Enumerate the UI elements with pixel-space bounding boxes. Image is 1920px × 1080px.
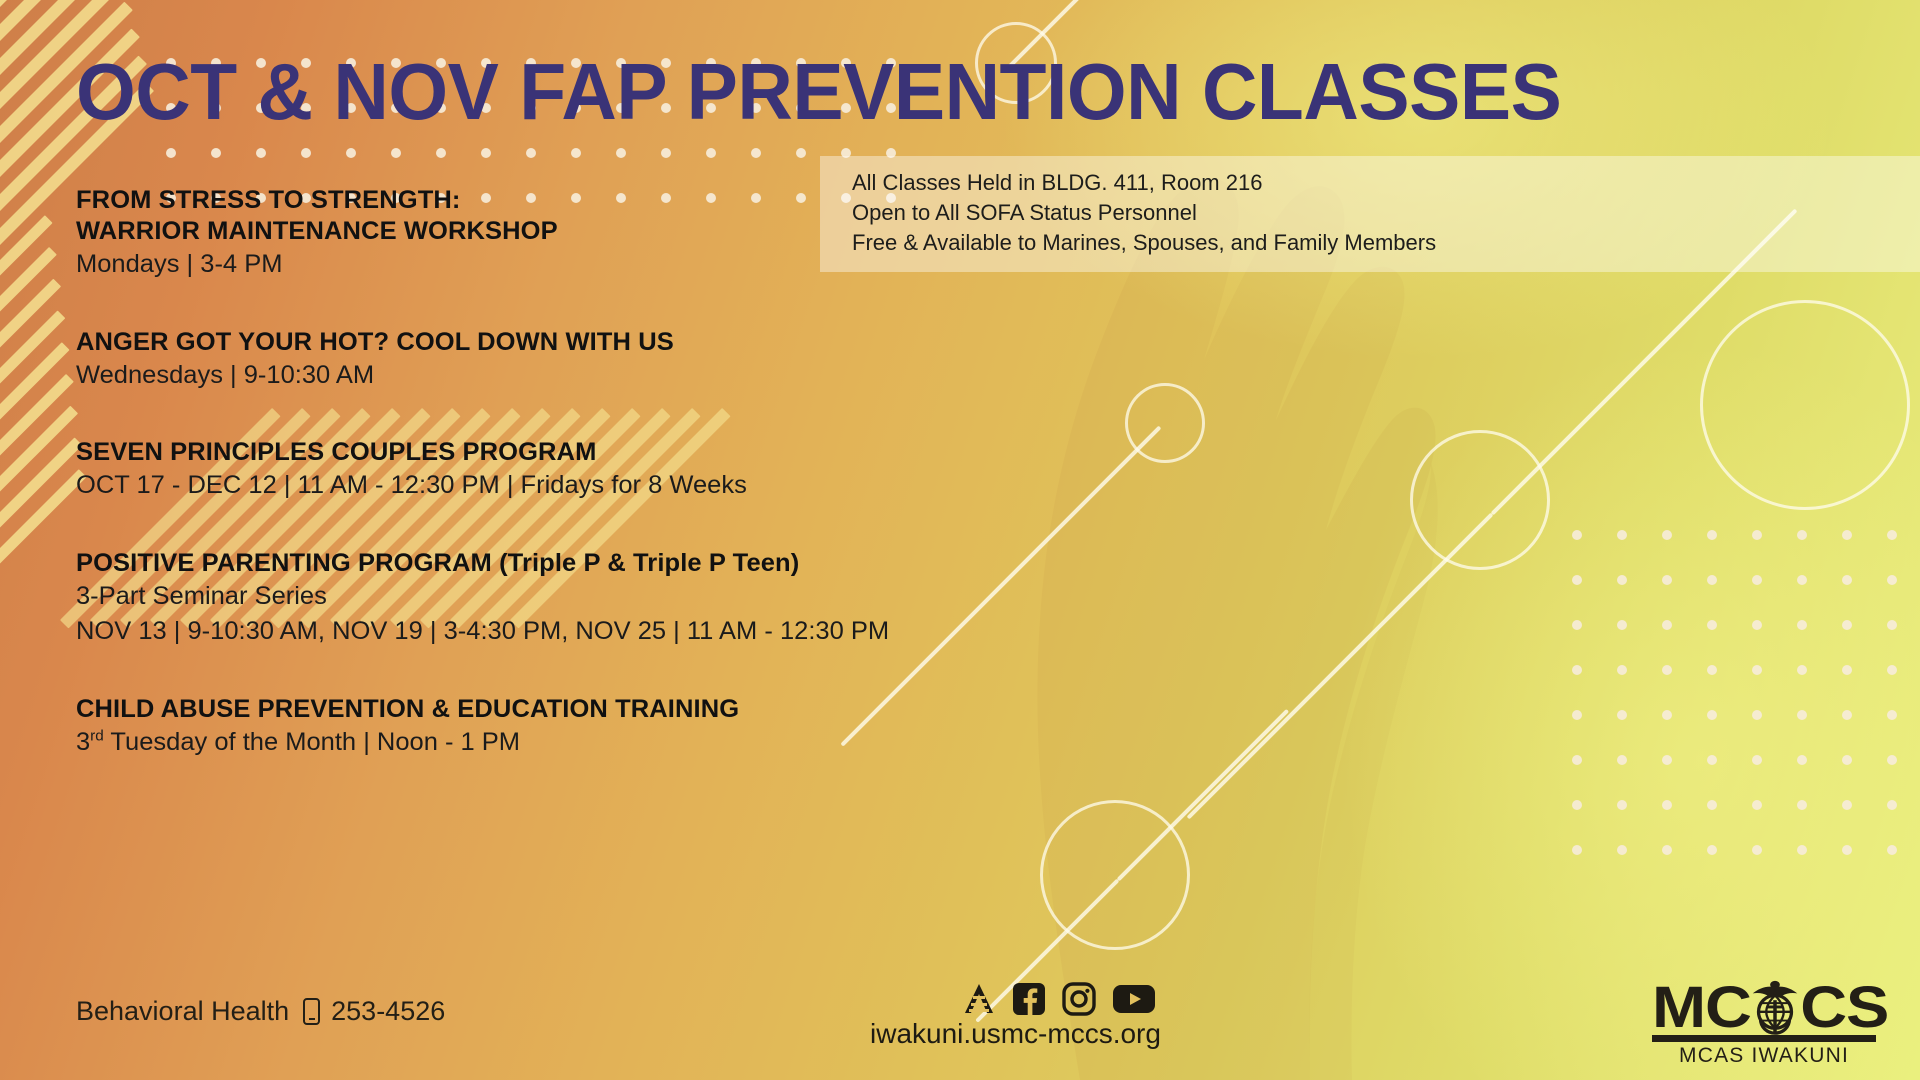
class-detail-rest: Tuesday of the Month | Noon - 1 PM (104, 728, 520, 756)
class-title-suffix: (Triple P & Triple P Teen) (499, 549, 799, 577)
youtube-icon[interactable] (1112, 983, 1156, 1015)
social-icons (962, 982, 1156, 1016)
class-title: FROM STRESS TO STRENGTH: (76, 185, 1096, 216)
instagram-icon[interactable] (1062, 982, 1096, 1016)
page-title: OCT & NOV FAP PREVENTION CLASSES (76, 52, 1561, 132)
class-item-child-abuse-prevention: CHILD ABUSE PREVENTION & EDUCATION TRAIN… (76, 694, 1076, 761)
phone-icon (303, 998, 320, 1025)
class-item-anger-management: ANGER GOT YOUR HOT? COOL DOWN WITH US We… (76, 327, 1076, 394)
class-detail-series: 3-Part Seminar Series (76, 579, 1096, 615)
class-detail-ordinal-suffix: rd (90, 727, 104, 744)
class-list: FROM STRESS TO STRENGTH: WARRIOR MAINTEN… (76, 185, 1076, 786)
class-detail: OCT 17 - DEC 12 | 11 AM - 12:30 PM | Fri… (76, 468, 1096, 504)
facebook-icon[interactable] (1012, 982, 1046, 1016)
class-detail: Wednesdays | 9-10:30 AM (76, 358, 1096, 394)
class-title-line2: WARRIOR MAINTENANCE WORKSHOP (76, 216, 1096, 247)
contact-line: Behavioral Health 253-4526 (76, 996, 445, 1027)
mccs-logo: MCOCS (1652, 978, 1882, 1068)
phone-number: 253-4526 (331, 996, 445, 1027)
class-item-positive-parenting: POSITIVE PARENTING PROGRAM (Triple P & T… (76, 548, 1076, 650)
class-title-main: POSITIVE PARENTING PROGRAM (76, 549, 499, 577)
class-title: SEVEN PRINCIPLES COUPLES PROGRAM (76, 437, 1096, 468)
class-item-from-stress-to-strength: FROM STRESS TO STRENGTH: WARRIOR MAINTEN… (76, 185, 1076, 283)
class-detail: Mondays | 3-4 PM (76, 247, 1096, 283)
mccs-wordmark: MCOCS (1652, 978, 1882, 1032)
poster-canvas: OCT & NOV FAP PREVENTION CLASSES All Cla… (0, 0, 1920, 1080)
class-detail-dates: NOV 13 | 9-10:30 AM, NOV 19 | 3-4:30 PM,… (76, 614, 1096, 650)
class-detail: 3rd Tuesday of the Month | Noon - 1 PM (76, 725, 1096, 761)
eagle-globe-anchor-icon (1744, 975, 1806, 1037)
class-detail-ordinal: 3 (76, 728, 90, 756)
class-title: POSITIVE PARENTING PROGRAM (Triple P & T… (76, 548, 1096, 579)
website-url[interactable]: iwakuni.usmc-mccs.org (870, 1018, 1161, 1050)
mccs-logo-subtitle: MCAS IWAKUNI (1652, 1044, 1876, 1068)
class-item-seven-principles-couples: SEVEN PRINCIPLES COUPLES PROGRAM OCT 17 … (76, 437, 1076, 504)
class-title: ANGER GOT YOUR HOT? COOL DOWN WITH US (76, 327, 1096, 358)
class-title: CHILD ABUSE PREVENTION & EDUCATION TRAIN… (76, 694, 1096, 725)
mccs-a-icon[interactable] (962, 982, 996, 1016)
poster-content: OCT & NOV FAP PREVENTION CLASSES All Cla… (0, 0, 1920, 1080)
department-label: Behavioral Health (76, 996, 289, 1027)
